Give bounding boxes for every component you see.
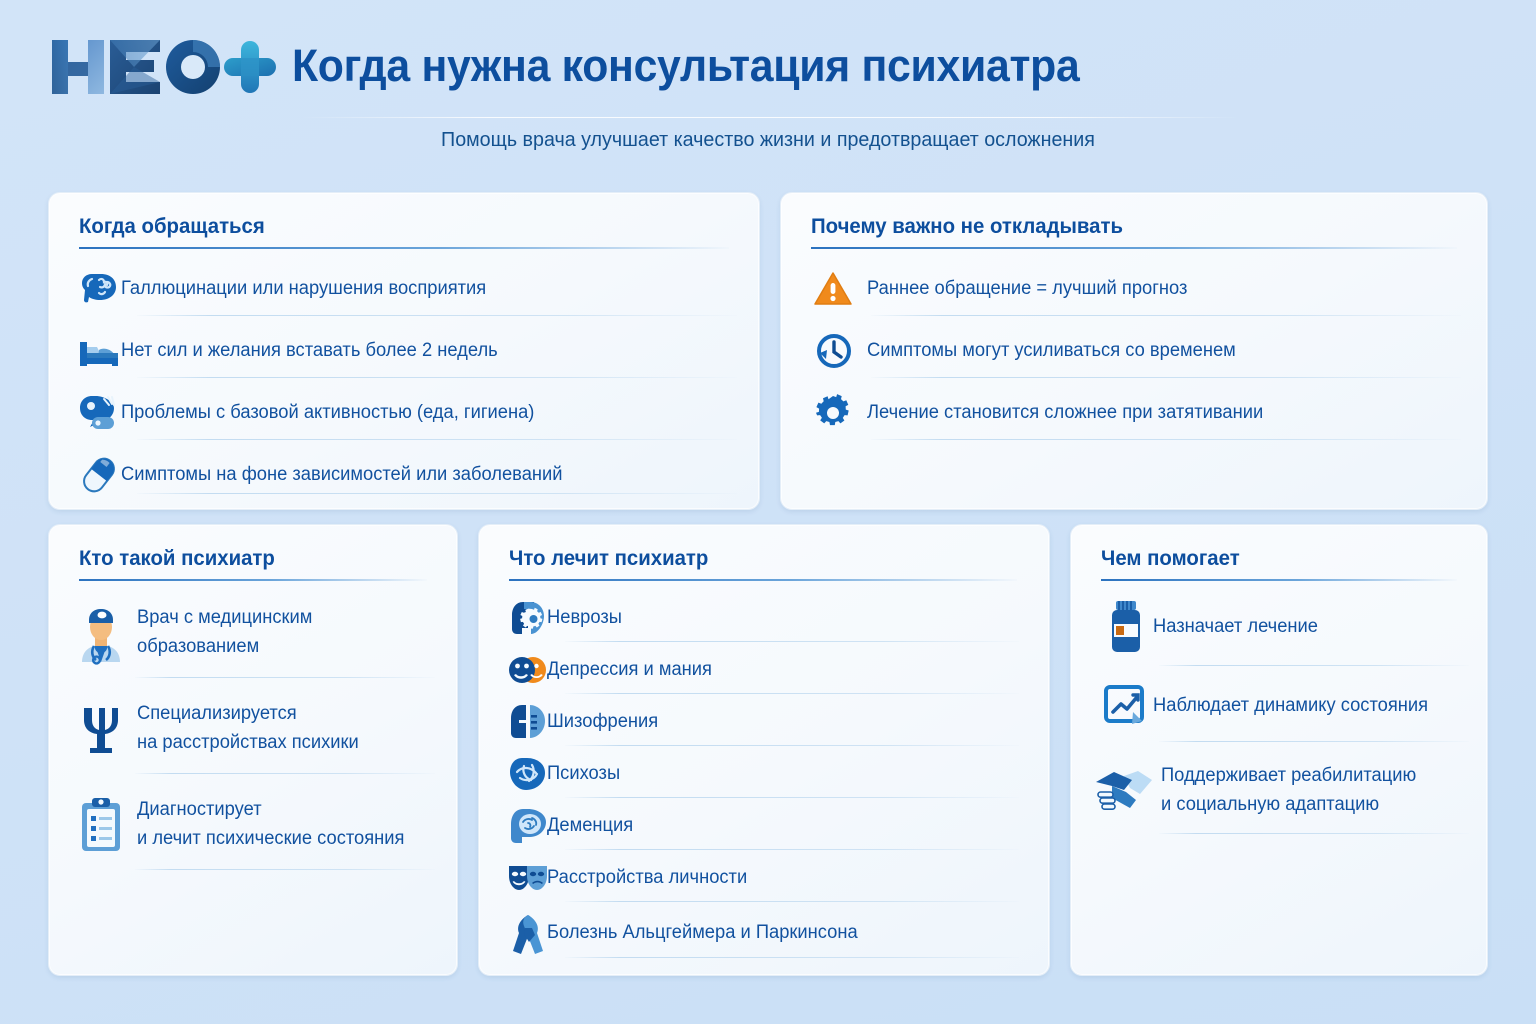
list-item-label: Неврозы: [547, 604, 622, 633]
list-item: Проблемы с базовой активностью (еда, гиг…: [77, 387, 737, 439]
card-title-divider: [79, 579, 427, 581]
list-item: Болезнь Альцгеймера и Паркинсона: [509, 909, 1019, 957]
list-item: Врач с медицинским образованием: [75, 591, 435, 675]
infographic-page: Когда нужна консультация психиатра Помощ…: [0, 0, 1536, 1024]
list-item-label: Болезнь Альцгеймера и Паркинсона: [547, 919, 858, 948]
list-item-label: Психозы: [547, 760, 620, 789]
row-divider: [871, 377, 1461, 378]
list-item: Наблюдает динамику состояния: [1099, 673, 1469, 739]
card-who-is-psychiatrist: Кто такой психиатр Врач с медицинским об…: [48, 524, 458, 976]
list-item-label: Нет сил и желания вставать более 2 недел…: [121, 337, 498, 366]
head-gear-icon: [509, 599, 547, 637]
list-item: Нет сил и желания вставать более 2 недел…: [77, 325, 737, 377]
card-how-it-helps: Чем помогает Назначает лечение: [1070, 524, 1488, 976]
row-divider: [135, 869, 435, 870]
card-title-divider: [811, 247, 1457, 249]
theater-masks-icon: [509, 859, 547, 897]
card-title: Что лечит психиатр: [509, 547, 708, 571]
list-item-label: Назначает лечение: [1153, 613, 1318, 642]
card-title-divider: [79, 247, 729, 249]
bed-icon: [77, 329, 121, 373]
row-divider: [565, 745, 1019, 746]
list-item-label: Расстройства личности: [547, 864, 747, 893]
chart-trend-icon: [1099, 680, 1153, 732]
list-item: Диагностирует и лечит психические состоя…: [75, 783, 435, 867]
card-what-psychiatrist-treats: Что лечит психиатр Неврозы: [478, 524, 1050, 976]
row-divider: [565, 849, 1019, 850]
list-item: Лечение становится сложнее при затятиван…: [811, 387, 1461, 439]
row-divider: [137, 439, 737, 440]
neo-plus-logo: [48, 34, 278, 100]
card-title-divider: [1101, 579, 1457, 581]
row-divider: [871, 315, 1461, 316]
list-item: Симптомы могут усиливаться со временем: [811, 325, 1461, 377]
page-subtitle: Помощь врача улучшает качество жизни и п…: [31, 128, 1506, 152]
list-item: Специализируется на расстройствах психик…: [75, 687, 435, 771]
row-divider: [137, 315, 737, 316]
tangled-head-icon: [509, 755, 547, 793]
list-item-label: Наблюдает динамику состояния: [1153, 692, 1428, 721]
doctor-avatar-icon: [75, 602, 127, 664]
warning-triangle-icon: [811, 267, 855, 311]
card-title-divider: [509, 579, 1017, 581]
list-item-label: Депрессия и мания: [547, 656, 712, 685]
header: Когда нужна консультация психиатра Помощ…: [0, 0, 1536, 172]
list-item: Раннее обращение = лучший прогноз: [811, 263, 1461, 315]
list-item-label: Раннее обращение = лучший прогноз: [867, 275, 1187, 304]
list-item: Шизофрения: [509, 699, 1019, 745]
row-divider: [1159, 833, 1469, 834]
awareness-ribbon-icon: [509, 914, 547, 952]
list-item: Неврозы: [509, 595, 1019, 641]
card-title: Когда обращаться: [79, 215, 265, 239]
row-divider: [565, 641, 1019, 642]
row-divider: [565, 957, 1019, 958]
card-title: Кто такой психиатр: [79, 547, 275, 571]
gear-icon: [811, 391, 855, 435]
row-divider: [565, 797, 1019, 798]
handshake-icon: [1093, 765, 1155, 817]
list-item-label: Симптомы на фоне зависимостей или заболе…: [121, 461, 563, 490]
card-title: Чем помогает: [1101, 547, 1240, 571]
psi-symbol-icon: [75, 700, 127, 758]
row-divider: [871, 439, 1461, 440]
row-divider: [1159, 665, 1469, 666]
list-item: Депрессия и мания: [509, 647, 1019, 693]
row-divider: [1159, 741, 1469, 742]
self-care-icon: [77, 391, 121, 435]
medicine-bottle-icon: [1099, 598, 1153, 656]
clock-icon: [811, 329, 855, 373]
row-divider: [565, 693, 1019, 694]
list-item-label: Галлюцинации или нарушения восприятия: [121, 275, 486, 304]
list-item-label: Шизофрения: [547, 708, 658, 737]
list-item-label: Симптомы могут усиливаться со временем: [867, 337, 1236, 366]
list-item-label: Поддерживает реабилитацию и социальную а…: [1161, 762, 1416, 820]
page-title: Когда нужна консультация психиатра: [292, 40, 1079, 92]
list-item-label: Диагностирует и лечит психические состоя…: [137, 796, 404, 854]
pill-capsule-icon: [77, 453, 121, 497]
header-divider: [300, 117, 1240, 118]
row-divider: [137, 377, 737, 378]
list-item-label: Врач с медицинским образованием: [137, 604, 312, 662]
two-masks-faces-icon: [509, 651, 547, 689]
list-item: Галлюцинации или нарушения восприятия: [77, 263, 737, 315]
clipboard-icon: [75, 795, 127, 855]
row-divider: [135, 677, 435, 678]
list-item-label: Лечение становится сложнее при затятиван…: [867, 399, 1263, 428]
brain-icon: [77, 267, 121, 311]
row-divider: [565, 901, 1019, 902]
list-item-label: Проблемы с базовой активностью (еда, гиг…: [121, 399, 534, 428]
head-brain-icon: [509, 807, 547, 845]
list-item: Поддерживает реабилитацию и социальную а…: [1093, 751, 1473, 831]
list-item-label: Специализируется на расстройствах психик…: [137, 700, 359, 758]
split-head-icon: [509, 703, 547, 741]
row-divider: [137, 493, 737, 494]
row-divider: [135, 773, 435, 774]
card-title: Почему важно не откладывать: [811, 215, 1123, 239]
list-item: Деменция: [509, 803, 1019, 849]
list-item: Расстройства личности: [509, 855, 1019, 901]
list-item-label: Деменция: [547, 812, 633, 841]
list-item: Психозы: [509, 751, 1019, 797]
list-item: Назначает лечение: [1099, 591, 1469, 663]
card-why-not-delay: Почему важно не откладывать Раннее обращ…: [780, 192, 1488, 510]
card-when-to-seek-help: Когда обращаться Галлюцинации или наруше…: [48, 192, 760, 510]
